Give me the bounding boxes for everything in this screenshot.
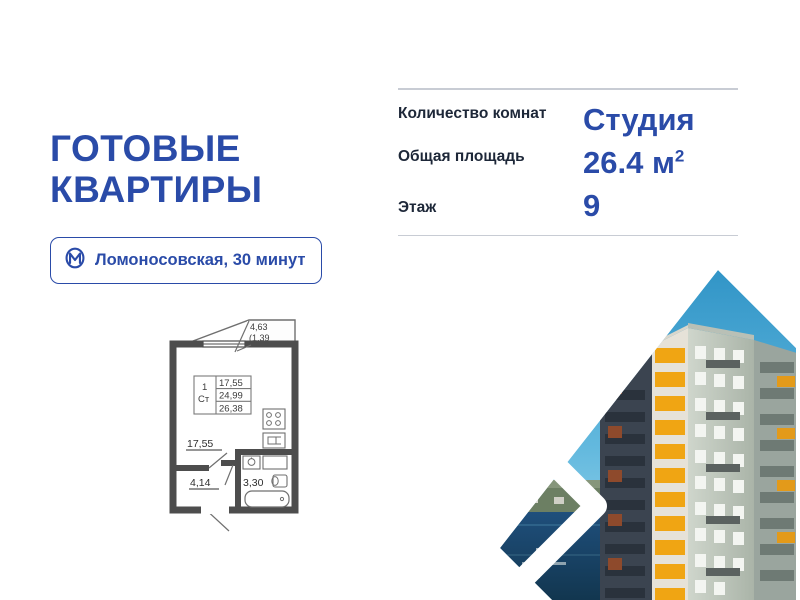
page-title-line1: ГОТОВЫЕ: [50, 128, 390, 169]
spec-row-floor: Этаж 9: [398, 190, 738, 221]
divider-bottom: [398, 235, 738, 237]
listing-card: ГОТОВЫЕ КВАРТИРЫ Ломоносовская, 30 минут…: [0, 0, 800, 600]
building-photo: RuDos.ru: [492, 262, 800, 600]
plan-area-usable: 24,99: [219, 391, 243, 402]
plan-area-total: 26,38: [219, 403, 243, 414]
spec-table: Количество комнат Студия Общая площадь 2…: [398, 88, 738, 236]
metro-m-icon: [64, 247, 86, 274]
spec-label-rooms: Количество комнат: [398, 104, 583, 123]
metro-badge[interactable]: Ломоносовская, 30 минут: [50, 237, 322, 284]
spec-value-rooms: Студия: [583, 104, 695, 135]
spec-value-area-unit: 2: [675, 146, 684, 165]
promo-block: ГОТОВЫЕ КВАРТИРЫ Ломоносовская, 30 минут: [50, 128, 390, 284]
page-title-line2: КВАРТИРЫ: [50, 169, 390, 210]
spec-value-area: 26.4 м2: [583, 147, 684, 178]
floor-plan[interactable]: 4,63 (1,39 1 Ст 17,55 24,99 26,38: [163, 305, 313, 545]
plan-room-type: Ст: [198, 394, 210, 405]
spec-row-rooms: Количество комнат Студия: [398, 104, 738, 135]
spec-value-floor: 9: [583, 190, 600, 221]
plan-balcony-area: 4,63: [250, 322, 268, 332]
spec-label-floor: Этаж: [398, 190, 583, 217]
plan-label-bath: 3,30: [243, 477, 264, 489]
spec-value-rooms-text: Студия: [583, 102, 695, 137]
spec-row-area: Общая площадь 26.4 м2: [398, 147, 738, 178]
spec-label-area: Общая площадь: [398, 147, 583, 166]
plan-label-main-room: 17,55: [187, 438, 213, 450]
metro-station-label: Ломоносовская, 30 минут: [95, 251, 305, 270]
plan-label-hall: 4,14: [190, 477, 211, 489]
plan-area-living: 17,55: [219, 378, 243, 389]
spec-rows: Количество комнат Студия Общая площадь 2…: [398, 90, 738, 235]
spec-value-area-text: 26.4 м: [583, 145, 675, 180]
plan-room-count: 1: [202, 382, 207, 393]
spec-value-floor-text: 9: [583, 188, 600, 223]
